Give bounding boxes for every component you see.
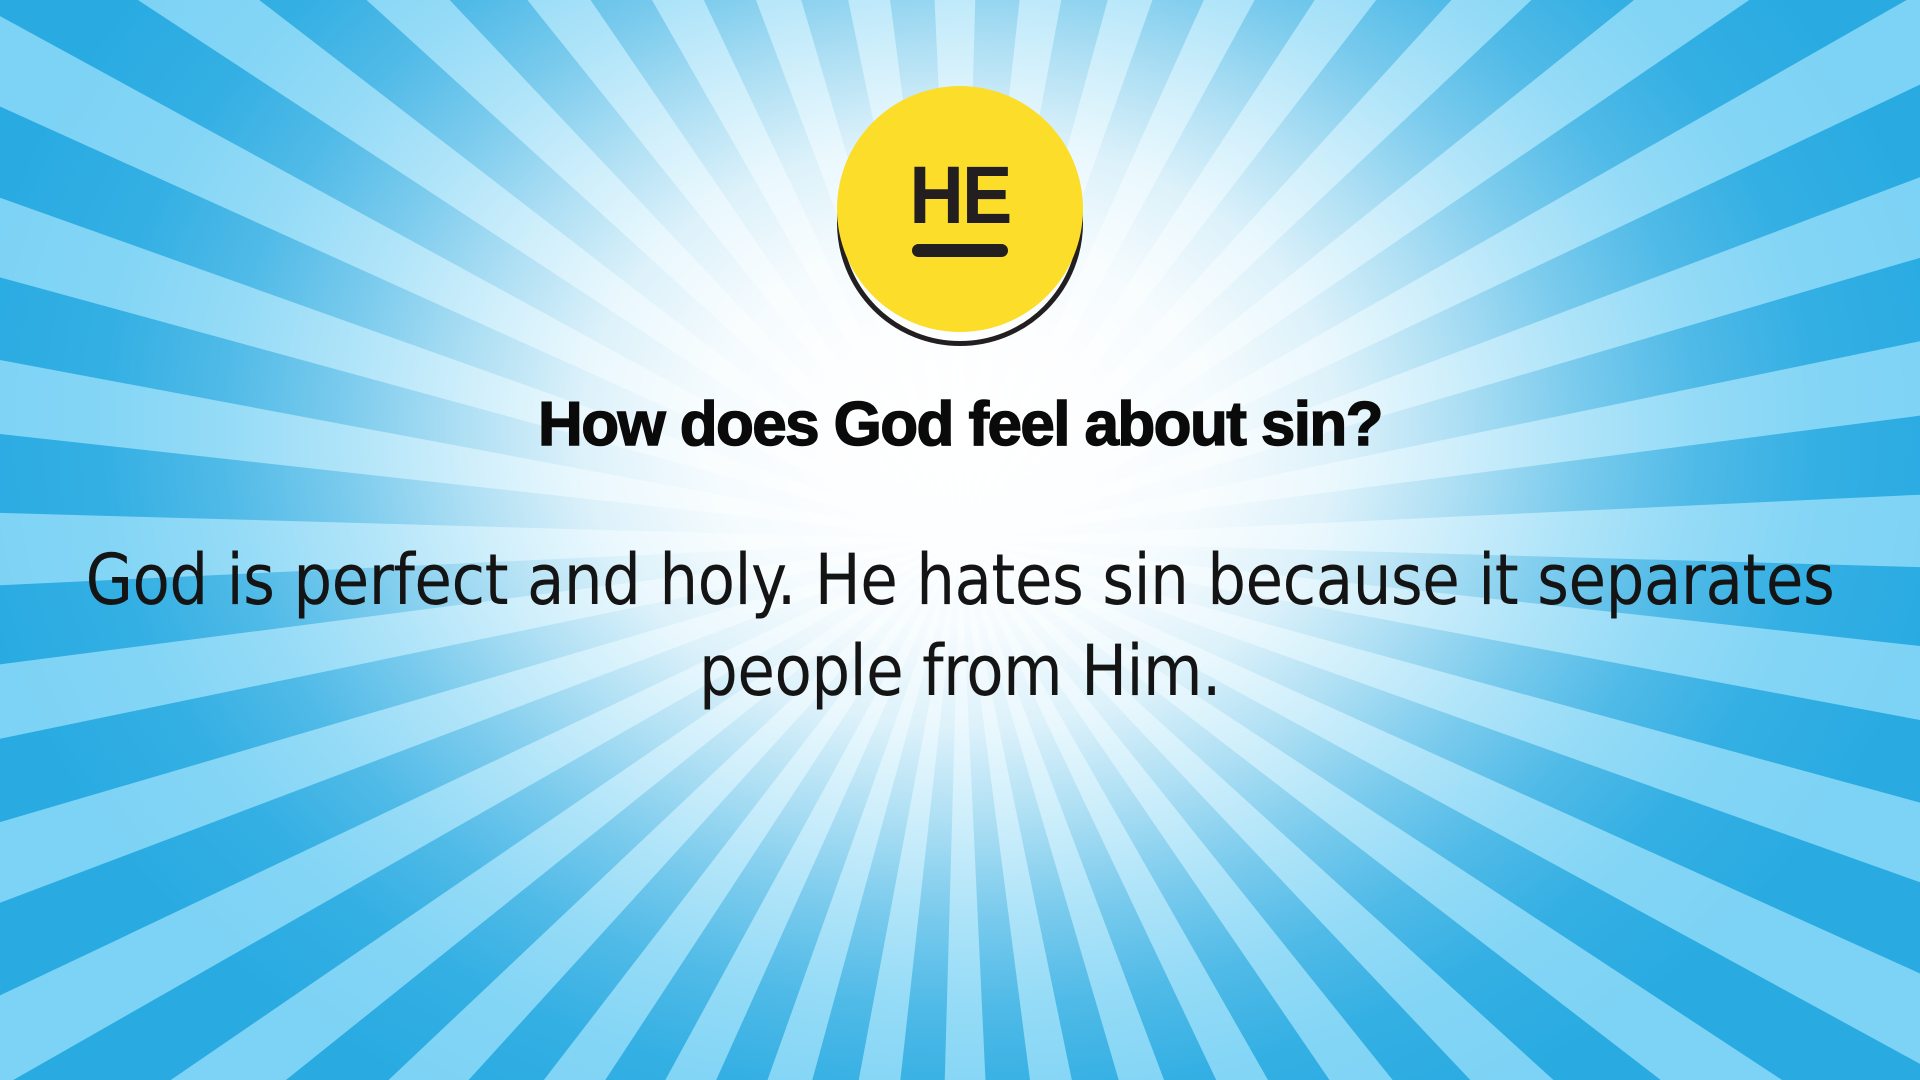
- logo-underline-bar-icon: [912, 244, 1008, 257]
- body-text: God is perfect and holy. He hates sin be…: [82, 535, 1838, 717]
- slide-canvas: HE How does God feel about sin? God is p…: [0, 0, 1920, 1080]
- logo-monogram-text: HE: [909, 161, 1010, 232]
- he-logo: HE: [810, 70, 1110, 370]
- logo-monogram-group: HE: [837, 86, 1083, 332]
- page-title: How does God feel about sin?: [0, 392, 1920, 457]
- slide-content: HE How does God feel about sin? God is p…: [0, 0, 1920, 1080]
